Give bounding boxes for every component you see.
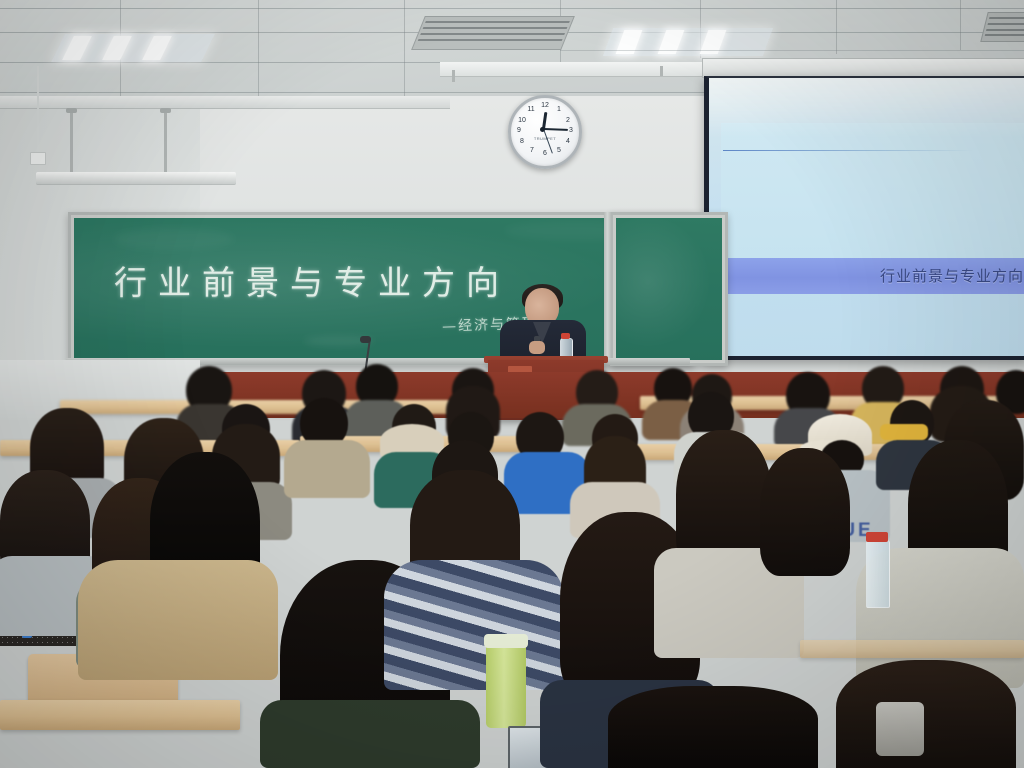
projector-screen-housing (702, 58, 1024, 78)
conduit-pipe (37, 66, 39, 152)
clock-numeral: 7 (527, 147, 537, 155)
person-torso-striped (384, 560, 564, 690)
hair-clip (876, 702, 924, 756)
blackboard-surface: 行业前景与专业方向 —经济与管理… (74, 218, 688, 360)
person-hair-long (608, 686, 818, 768)
blackboard: 行业前景与专业方向 —经济与管理… (68, 212, 694, 366)
thermos-lid (484, 634, 528, 648)
board-light-rod (452, 70, 455, 82)
slide-rule-line (723, 150, 973, 151)
clock-numeral: 11 (526, 106, 536, 114)
clock-numeral: 2 (563, 117, 573, 125)
clock-numeral: 5 (554, 147, 564, 155)
scarf (880, 424, 928, 440)
ceiling-air-vent-center (411, 16, 575, 50)
clock-numeral: 1 (554, 106, 564, 114)
bottle-cap-desk-icon (866, 532, 888, 542)
desk-row-right-near (800, 640, 1024, 658)
blackboard-surface-right (616, 218, 722, 360)
wall-switch[interactable] (30, 152, 46, 165)
lecture-hall-photo: 12 1 2 3 4 5 6 7 8 9 10 11 TRUMPET 行业前景与… (0, 0, 1024, 768)
blackboard-panel-right (610, 212, 728, 366)
wall-clock: 12 1 2 3 4 5 6 7 8 9 10 11 TRUMPET (508, 95, 582, 169)
person-torso (284, 440, 370, 498)
clock-numeral: 9 (514, 127, 524, 135)
slide-upper-panel (721, 123, 1024, 258)
person-hair-long (760, 448, 850, 576)
blackboard-divider (604, 212, 611, 360)
blackboard-title-text: 行业前景与专业方向 (114, 256, 510, 304)
microphone-icon (360, 336, 371, 343)
thermos-bottle (486, 640, 526, 728)
clock-numeral: 12 (540, 102, 550, 110)
wall-top-trim (440, 62, 710, 77)
clock-numeral: 6 (540, 150, 550, 158)
hanging-light-fixture (36, 172, 236, 185)
person-torso (260, 700, 480, 768)
clock-minute-hand (543, 128, 568, 131)
speaker-hand (529, 341, 545, 354)
light-hanger-rod-right (164, 112, 167, 174)
desk-row-front (0, 700, 240, 730)
person-torso-jacket (78, 560, 278, 680)
clock-numeral: 10 (517, 117, 527, 125)
slide-title-text: 行业前景与专业方向 (880, 265, 1024, 286)
person-hair-bun (836, 660, 1016, 768)
bottle-cap-icon (561, 333, 570, 339)
projection-screen: 行业前景与专业方向 2023年4月 (704, 76, 1024, 360)
clock-center-pin (540, 127, 545, 132)
water-bottle-desk (866, 540, 890, 608)
board-light-rod-2 (660, 66, 663, 76)
ceiling-air-vent-right (980, 12, 1024, 42)
light-hanger-rod-left (70, 112, 73, 174)
